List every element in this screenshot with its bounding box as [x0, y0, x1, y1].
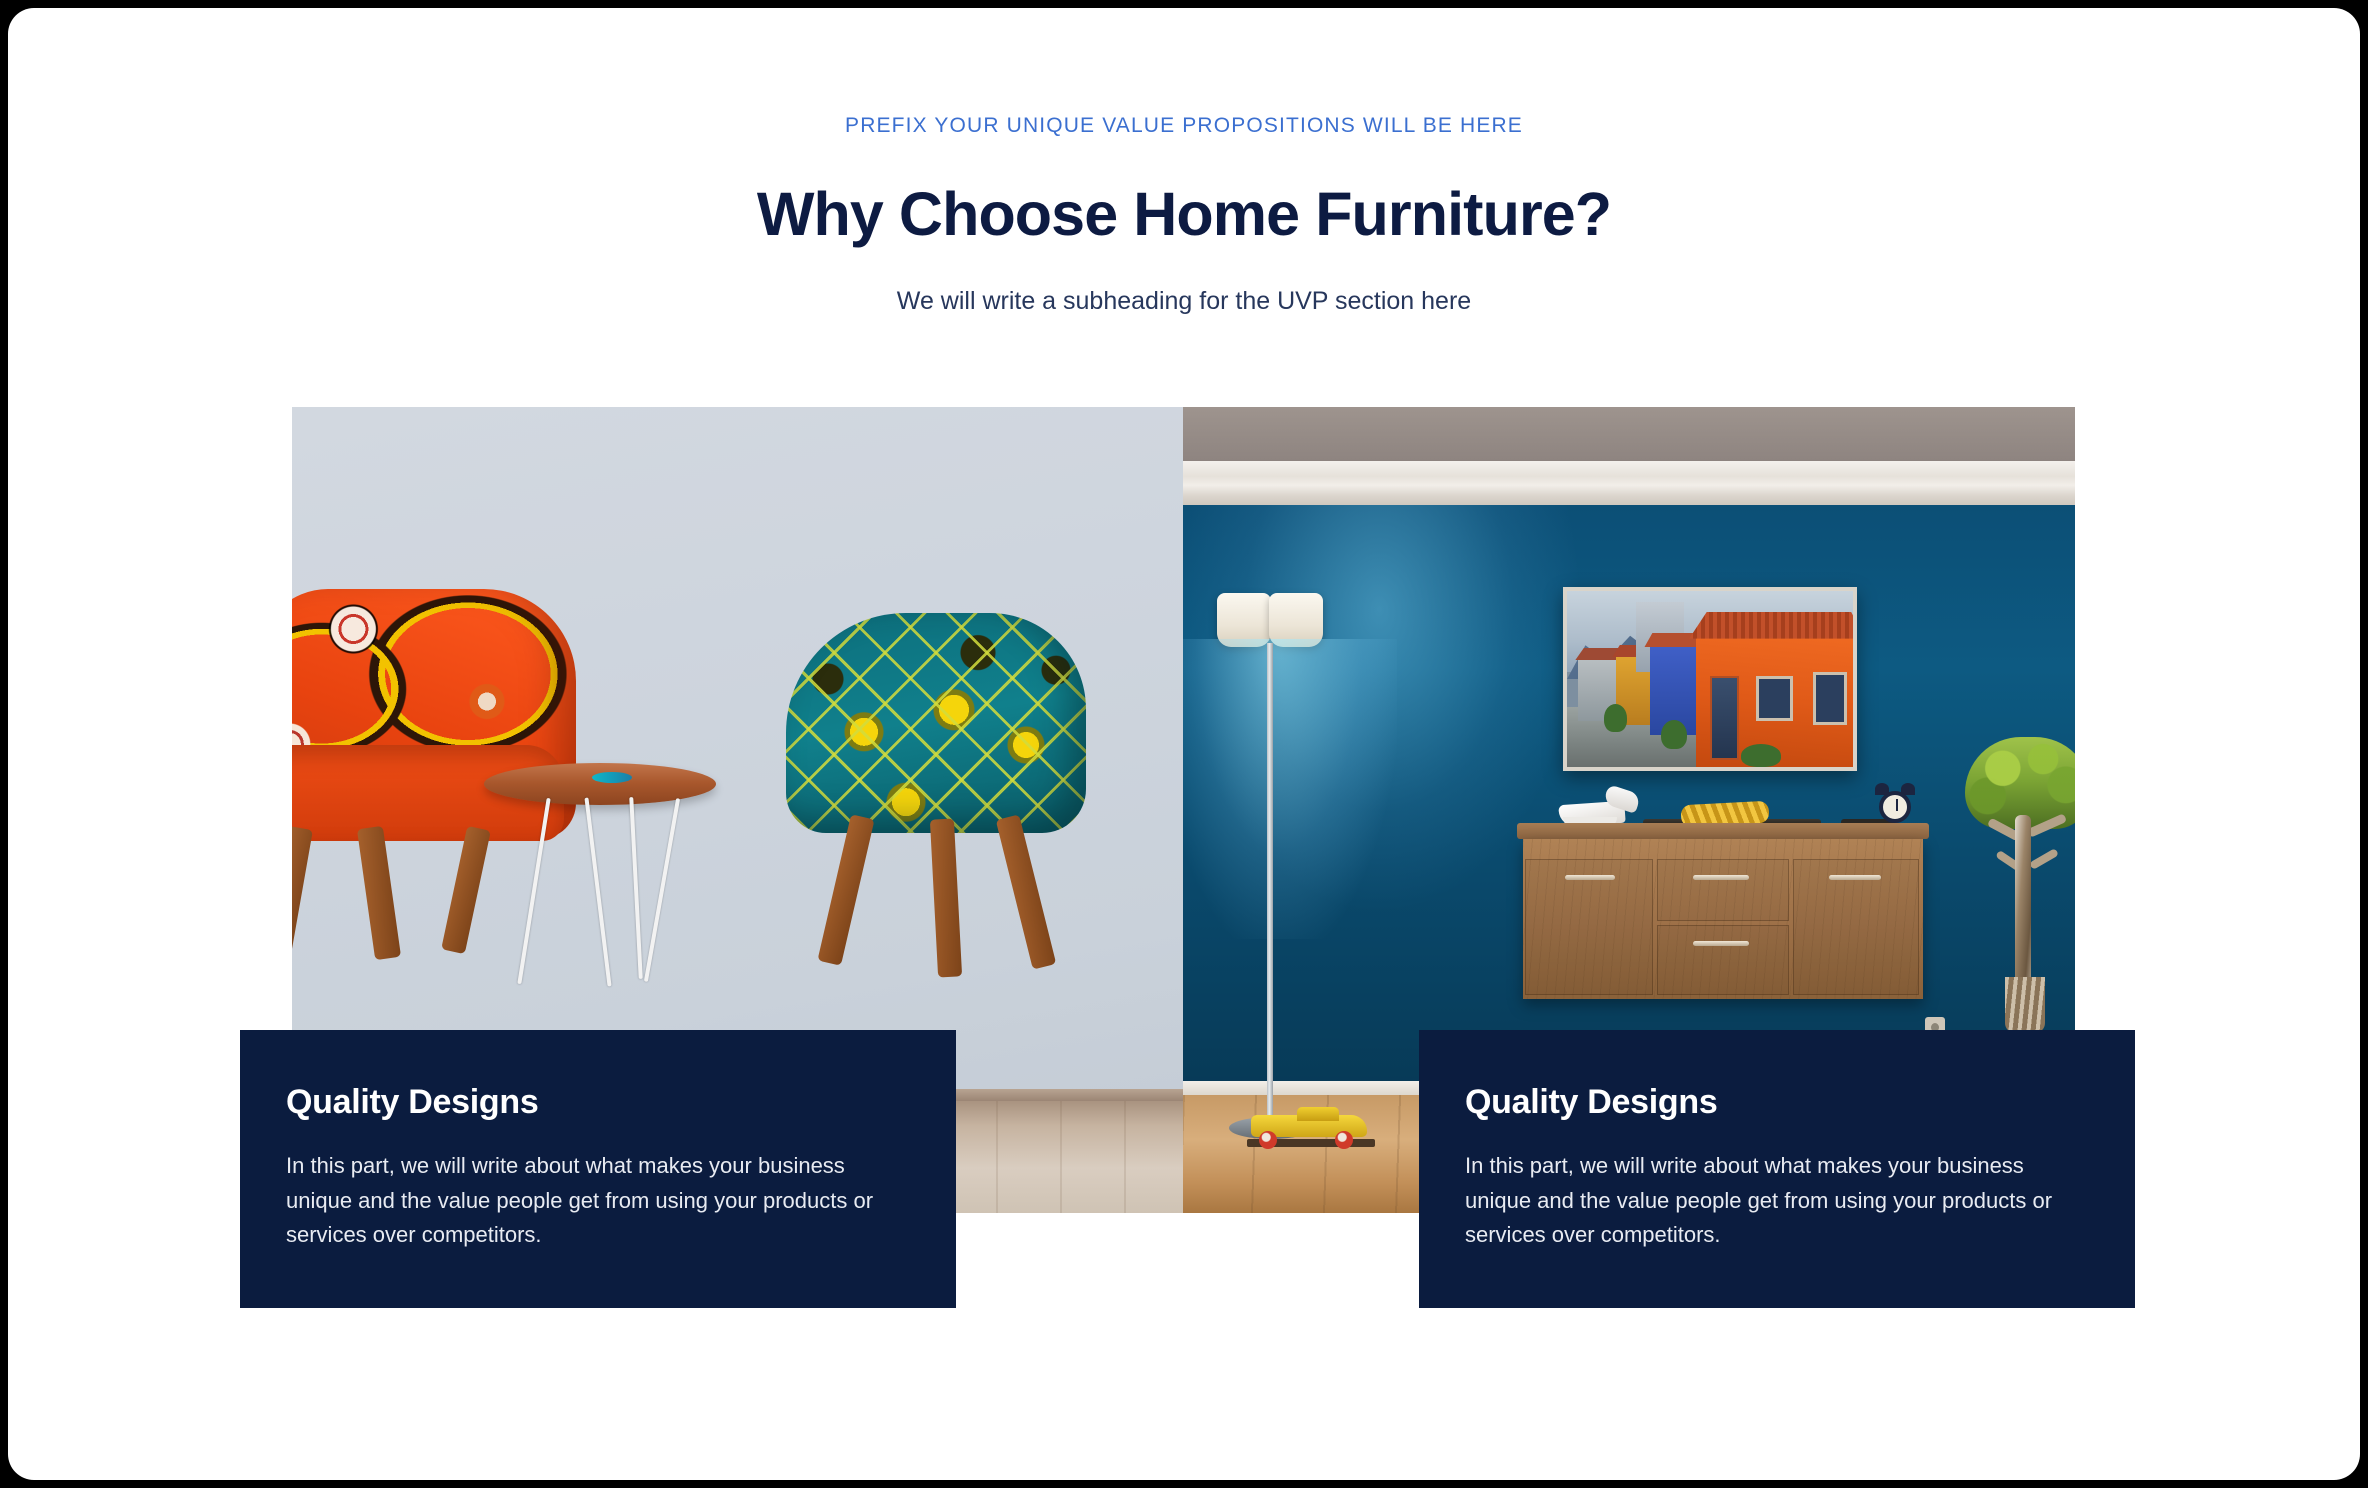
lamp-shade — [1217, 593, 1271, 647]
toy-car-wheel — [1335, 1131, 1353, 1149]
feature-card-body: In this part, we will write about what m… — [286, 1149, 886, 1253]
toy-car-wheel — [1259, 1131, 1277, 1149]
toy-car-cabin — [1297, 1107, 1339, 1121]
table-leg — [584, 797, 611, 986]
section-subheading: We will write a subheading for the UVP s… — [8, 285, 2360, 318]
page-frame: PREFIX YOUR UNIQUE VALUE PROPOSITIONS WI… — [8, 8, 2360, 1480]
feature-card: Quality Designs In this part, we will wr… — [1419, 1030, 2135, 1308]
sideboard-handle — [1829, 875, 1881, 880]
sideboard-drawer — [1657, 859, 1789, 921]
lamp-shade — [1269, 593, 1323, 647]
tree-roots — [2005, 977, 2045, 1033]
bonsai-tree — [1965, 737, 2075, 1033]
section-prefix-label: PREFIX YOUR UNIQUE VALUE PROPOSITIONS WI… — [8, 113, 2360, 138]
painting-door — [1710, 676, 1739, 760]
feature-card: Quality Designs In this part, we will wr… — [240, 1030, 956, 1308]
lamp-pole — [1267, 643, 1273, 1123]
painting-window — [1813, 672, 1847, 725]
table-top — [484, 763, 716, 805]
wooden-sideboard — [1523, 823, 1923, 999]
alarm-clock — [1875, 783, 1915, 827]
round-side-table — [484, 763, 716, 983]
page-title: Why Choose Home Furniture? — [8, 180, 2360, 248]
ceiling — [1183, 407, 2075, 461]
painting-shrub — [1604, 704, 1627, 732]
crown-molding — [1183, 461, 2075, 505]
tree-branch — [2029, 848, 2059, 870]
yellow-toy-car — [1251, 1107, 1367, 1147]
feature-card-title: Quality Designs — [1465, 1082, 2089, 1123]
sideboard-drawer — [1657, 925, 1789, 995]
chair-backrest — [786, 613, 1086, 833]
sideboard-handle — [1693, 875, 1749, 880]
painting-shrub — [1741, 744, 1781, 767]
table-leg — [517, 798, 550, 984]
section-header: PREFIX YOUR UNIQUE VALUE PROPOSITIONS WI… — [8, 8, 2360, 317]
table-leg — [629, 797, 643, 979]
framed-street-painting — [1563, 587, 1857, 771]
feature-card-title: Quality Designs — [286, 1082, 910, 1123]
painting-window — [1756, 676, 1793, 722]
sideboard-handle — [1693, 941, 1749, 946]
painting-shrub — [1661, 720, 1687, 750]
table-leg — [644, 798, 680, 982]
floor-lamp — [1217, 593, 1323, 1153]
screenshot-viewport: PREFIX YOUR UNIQUE VALUE PROPOSITIONS WI… — [0, 0, 2368, 1488]
feature-card-body: In this part, we will write about what m… — [1465, 1149, 2065, 1253]
sideboard-handle — [1565, 875, 1615, 880]
clock-face — [1879, 791, 1911, 823]
teal-patterned-chair — [786, 613, 1086, 857]
sideboard-top — [1517, 823, 1929, 839]
sideboard-body — [1523, 839, 1923, 999]
